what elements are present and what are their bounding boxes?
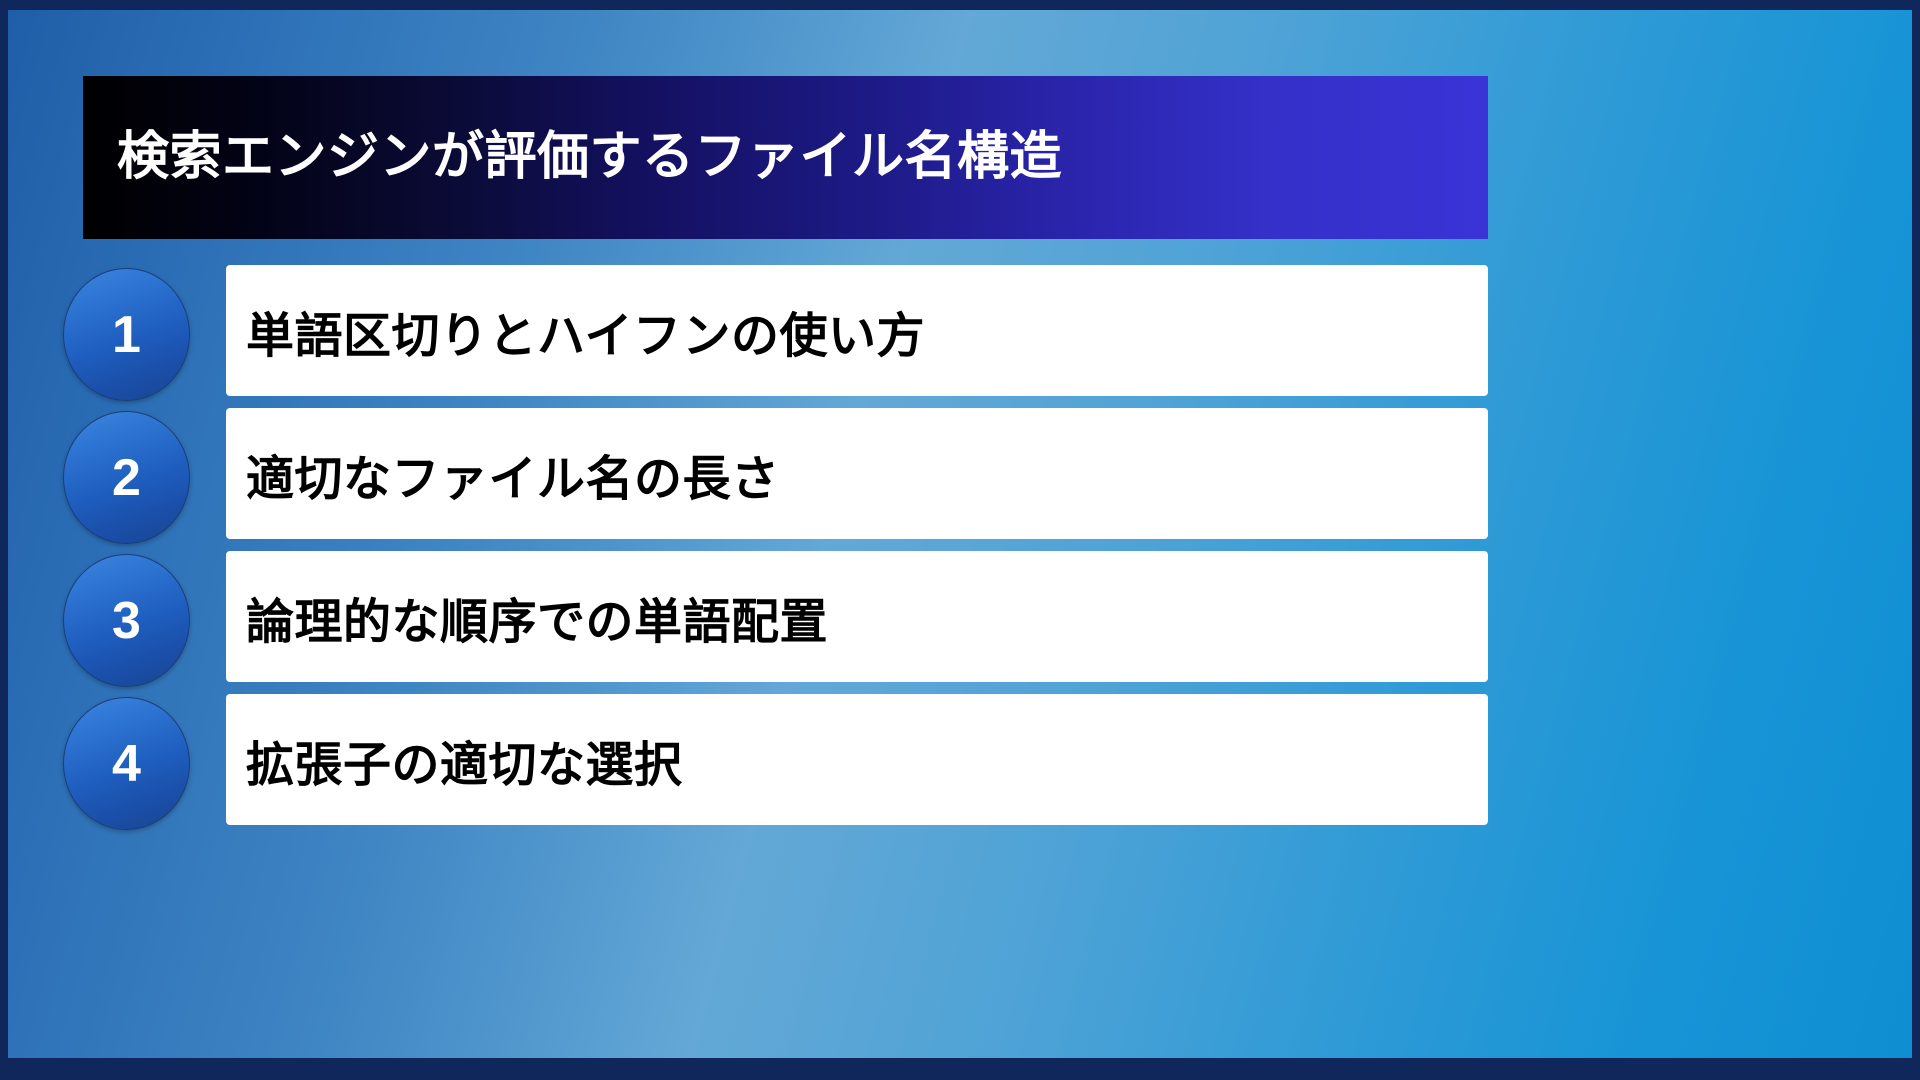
list-item-label: 拡張子の適切な選択 — [226, 725, 683, 795]
list-item-card[interactable]: 適切なファイル名の長さ — [226, 408, 1488, 539]
list-item-card[interactable]: 単語区切りとハイフンの使い方 — [226, 265, 1488, 396]
list-item[interactable]: 2 適切なファイル名の長さ — [8, 408, 1912, 548]
list-item-number-badge: 4 — [63, 697, 190, 830]
list-item-card[interactable]: 論理的な順序での単語配置 — [226, 551, 1488, 682]
list-item[interactable]: 4 拡張子の適切な選択 — [8, 694, 1912, 834]
list-item-label: 論理的な順序での単語配置 — [226, 582, 828, 652]
slide-title-bar: 検索エンジンが評価するファイル名構造 — [83, 76, 1488, 239]
list-item-number: 1 — [112, 309, 141, 361]
list-item-card[interactable]: 拡張子の適切な選択 — [226, 694, 1488, 825]
list-item-label: 単語区切りとハイフンの使い方 — [226, 296, 925, 366]
slide-root: 検索エンジンが評価するファイル名構造 1 単語区切りとハイフンの使い方 2 適切… — [0, 0, 1920, 1080]
list-item-number-badge: 1 — [63, 268, 190, 401]
list-item-number-badge: 3 — [63, 554, 190, 687]
list-item[interactable]: 1 単語区切りとハイフンの使い方 — [8, 265, 1912, 405]
numbered-list: 1 単語区切りとハイフンの使い方 2 適切なファイル名の長さ 3 — [8, 265, 1912, 837]
list-item-label: 適切なファイル名の長さ — [226, 439, 780, 509]
list-item-number-badge: 2 — [63, 411, 190, 544]
list-item-number: 2 — [112, 452, 141, 504]
list-item-number: 4 — [112, 738, 141, 790]
list-item-number: 3 — [112, 595, 141, 647]
list-item[interactable]: 3 論理的な順序での単語配置 — [8, 551, 1912, 691]
page-title: 検索エンジンが評価するファイル名構造 — [83, 129, 1062, 186]
slide-panel: 検索エンジンが評価するファイル名構造 1 単語区切りとハイフンの使い方 2 適切… — [8, 10, 1912, 1058]
